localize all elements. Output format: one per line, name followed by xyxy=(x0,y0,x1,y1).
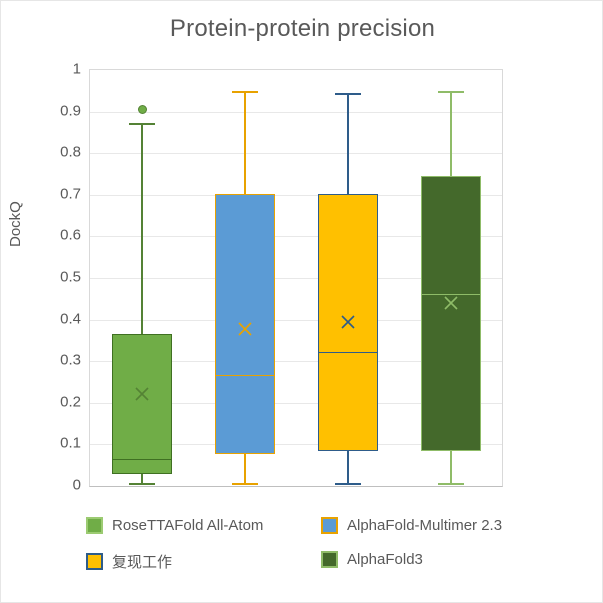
y-axis-tick-label: 0.9 xyxy=(37,102,81,119)
legend-swatch-icon xyxy=(321,517,338,534)
legend-label: AlphaFold3 xyxy=(347,551,423,568)
y-axis-tick-label: 0.1 xyxy=(37,435,81,452)
y-axis-tick-label: 0.8 xyxy=(37,144,81,161)
legend-item-3[interactable]: 复现工作 xyxy=(86,551,172,572)
legend-label: RoseTTAFold All-Atom xyxy=(112,517,263,534)
y-axis-title: DockQ xyxy=(7,201,24,247)
chart-legend: RoseTTAFold All-AtomAlphaFold-Multimer 2… xyxy=(1,509,603,587)
y-axis-tick-label: 0.5 xyxy=(37,269,81,286)
legend-item-4[interactable]: AlphaFold3 xyxy=(321,551,423,568)
upper-whisker-cap xyxy=(438,91,464,93)
legend-label: AlphaFold-Multimer 2.3 xyxy=(347,517,502,534)
legend-swatch-icon xyxy=(321,551,338,568)
y-axis-tick-label: 0.7 xyxy=(37,185,81,202)
y-axis-tick-label: 0.6 xyxy=(37,227,81,244)
mean-marker-x xyxy=(443,295,459,311)
box-plot-4[interactable] xyxy=(90,70,502,486)
upper-whisker xyxy=(450,91,452,176)
legend-swatch-icon xyxy=(86,517,103,534)
y-axis-tick-label: 0.4 xyxy=(37,310,81,327)
y-axis-tick-label: 0 xyxy=(37,477,81,494)
y-axis-tick-label: 1 xyxy=(37,61,81,78)
y-axis-tick-label: 0.3 xyxy=(37,352,81,369)
plot-area xyxy=(89,69,503,487)
box-iqr[interactable] xyxy=(421,176,481,451)
chart-title: Protein-protein precision xyxy=(1,15,603,43)
y-axis-tick-label: 0.2 xyxy=(37,393,81,410)
lower-whisker-cap xyxy=(438,483,464,485)
legend-label: 复现工作 xyxy=(112,551,172,572)
lower-whisker xyxy=(450,451,452,484)
chart-container: Protein-protein precision DockQ 10.90.80… xyxy=(0,0,603,603)
legend-item-2[interactable]: AlphaFold-Multimer 2.3 xyxy=(321,517,502,534)
legend-swatch-icon xyxy=(86,553,103,570)
legend-item-1[interactable]: RoseTTAFold All-Atom xyxy=(86,517,263,534)
